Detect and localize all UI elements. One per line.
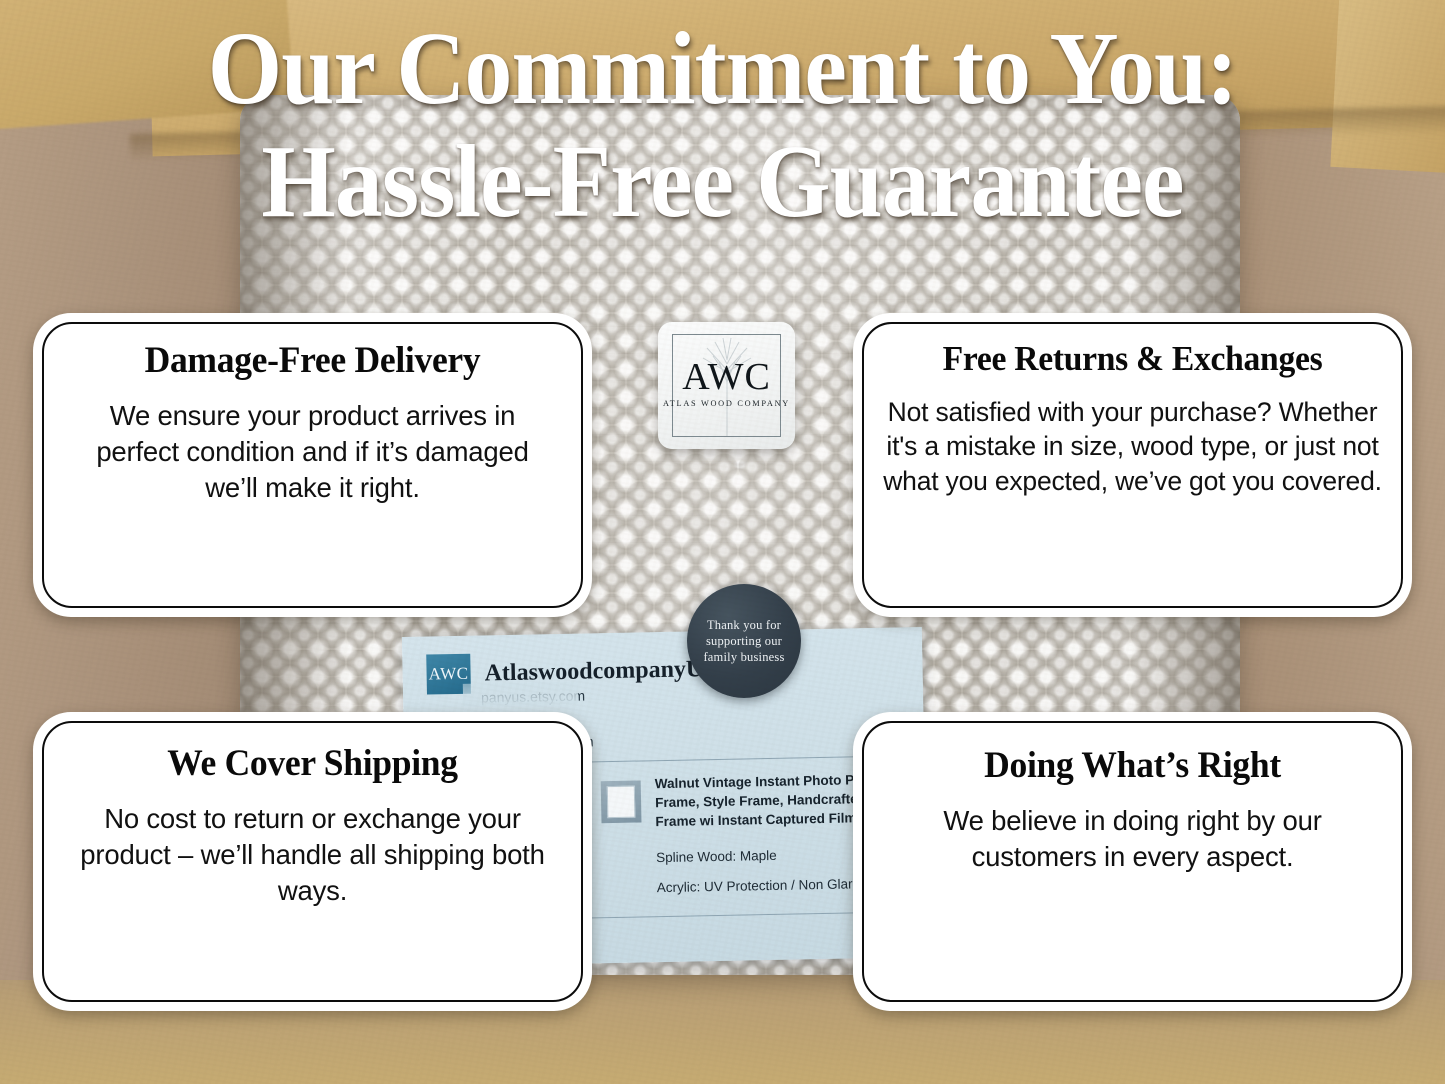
feature-card-we-cover-shipping: We Cover Shipping No cost to return or e… [33, 712, 592, 1011]
feature-card-body: No cost to return or exchange your produ… [67, 801, 558, 908]
promo-graphic: AWC AtlaswoodcompanyUS panyus.etsy.com m… [0, 0, 1445, 1084]
feature-card-body: Not satisfied with your purchase? Whethe… [877, 395, 1388, 498]
feature-card-title: Doing What’s Right [897, 744, 1368, 787]
headline-line-2: Hassle-Free Guarantee [58, 131, 1387, 234]
feature-card-doing-whats-right: Doing What’s Right We believe in doing r… [853, 712, 1412, 1011]
feature-card-free-returns-exchanges: Free Returns & Exchanges Not satisfied w… [853, 313, 1412, 617]
feature-card-damage-free-delivery: Damage-Free Delivery We ensure your prod… [33, 313, 592, 617]
feature-card-body: We believe in doing right by our custome… [887, 803, 1378, 875]
feature-card-body: We ensure your product arrives in perfec… [67, 398, 558, 505]
feature-card-title: Free Returns & Exchanges [887, 339, 1378, 379]
feature-card-title: We Cover Shipping [77, 742, 548, 785]
page-title: Our Commitment to You: Hassle-Free Guara… [58, 18, 1387, 234]
headline-line-1: Our Commitment to You: [58, 18, 1387, 121]
feature-card-title: Damage-Free Delivery [77, 339, 548, 382]
